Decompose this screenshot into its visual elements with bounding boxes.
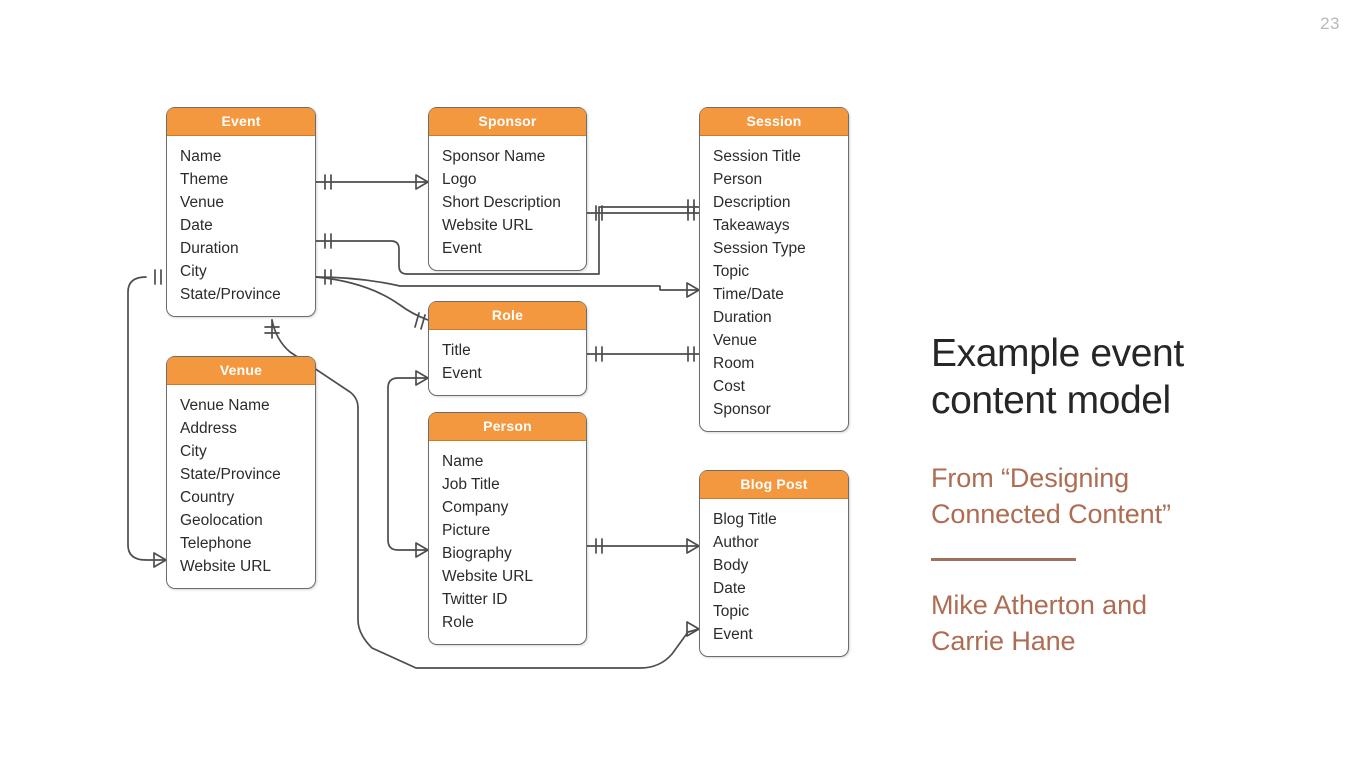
entity-sponsor[interactable]: Sponsor Sponsor Name Logo Short Descript… xyxy=(428,107,587,271)
connector-role-person xyxy=(388,378,428,550)
page-title-line-2: content model xyxy=(931,379,1171,422)
entity-event[interactable]: Event Name Theme Venue Date Duration Cit… xyxy=(166,107,316,317)
field: Session Type xyxy=(713,237,848,260)
field: Picture xyxy=(442,519,586,542)
connector-event-session-topic xyxy=(316,277,699,290)
field: Event xyxy=(442,237,586,260)
field: Room xyxy=(713,352,848,375)
field: Description xyxy=(713,191,848,214)
field: City xyxy=(180,260,315,283)
connector-event-role xyxy=(316,277,428,320)
author-attribution: Mike Atherton and Carrie Hane xyxy=(931,587,1331,659)
field: Country xyxy=(180,486,315,509)
field: Session Title xyxy=(713,145,848,168)
field: State/Province xyxy=(180,463,315,486)
field: Venue Name xyxy=(180,394,315,417)
field: Cost xyxy=(713,375,848,398)
field: Theme xyxy=(180,168,315,191)
entity-event-header: Event xyxy=(167,108,315,136)
field: Sponsor xyxy=(713,398,848,421)
field: Geolocation xyxy=(180,509,315,532)
field: Website URL xyxy=(180,555,315,578)
connector-event-venue xyxy=(128,277,166,560)
page-title-line-1: Example event xyxy=(931,332,1184,375)
entity-role[interactable]: Role Title Event xyxy=(428,301,587,396)
field: State/Province xyxy=(180,283,315,306)
source-line-1: From “Designing xyxy=(931,463,1129,493)
field: Event xyxy=(442,362,586,385)
field: Blog Title xyxy=(713,508,848,531)
field: Topic xyxy=(713,260,848,283)
entity-sponsor-fields: Sponsor Name Logo Short Description Webs… xyxy=(429,136,586,270)
field: Date xyxy=(713,577,848,600)
field: Venue xyxy=(713,329,848,352)
entity-blog-post-header: Blog Post xyxy=(700,471,848,499)
field: Short Description xyxy=(442,191,586,214)
field: Address xyxy=(180,417,315,440)
entity-venue[interactable]: Venue Venue Name Address City State/Prov… xyxy=(166,356,316,589)
field: Topic xyxy=(713,600,848,623)
field: Role xyxy=(442,611,586,634)
field: Name xyxy=(442,450,586,473)
field: Person xyxy=(713,168,848,191)
field: Title xyxy=(442,339,586,362)
field: Body xyxy=(713,554,848,577)
field: Name xyxy=(180,145,315,168)
er-diagram: Event Name Theme Venue Date Duration Cit… xyxy=(0,0,900,766)
field: Takeaways xyxy=(713,214,848,237)
entity-venue-header: Venue xyxy=(167,357,315,385)
entity-person[interactable]: Person Name Job Title Company Picture Bi… xyxy=(428,412,587,645)
field: Author xyxy=(713,531,848,554)
text-panel: Example event content model From “Design… xyxy=(931,330,1331,659)
field: Sponsor Name xyxy=(442,145,586,168)
field: Telephone xyxy=(180,532,315,555)
entity-role-header: Role xyxy=(429,302,586,330)
field: Time/Date xyxy=(713,283,848,306)
entity-role-fields: Title Event xyxy=(429,330,586,395)
field: Duration xyxy=(180,237,315,260)
entity-blog-post-fields: Blog Title Author Body Date Topic Event xyxy=(700,499,848,656)
entity-event-fields: Name Theme Venue Date Duration City Stat… xyxy=(167,136,315,316)
entity-person-header: Person xyxy=(429,413,586,441)
entity-session-header: Session xyxy=(700,108,848,136)
entity-session[interactable]: Session Session Title Person Description… xyxy=(699,107,849,432)
author-line-1: Mike Atherton and xyxy=(931,590,1147,620)
entity-venue-fields: Venue Name Address City State/Province C… xyxy=(167,385,315,588)
field: Duration xyxy=(713,306,848,329)
field: Logo xyxy=(442,168,586,191)
entity-blog-post[interactable]: Blog Post Blog Title Author Body Date To… xyxy=(699,470,849,657)
author-line-2: Carrie Hane xyxy=(931,626,1075,656)
field: Twitter ID xyxy=(442,588,586,611)
source-attribution: From “Designing Connected Content” xyxy=(931,460,1331,532)
field: Website URL xyxy=(442,565,586,588)
field: Website URL xyxy=(442,214,586,237)
field: Event xyxy=(713,623,848,646)
page-title: Example event content model xyxy=(931,330,1331,424)
field: Biography xyxy=(442,542,586,565)
field: Company xyxy=(442,496,586,519)
page-number: 23 xyxy=(1320,14,1340,34)
field: Date xyxy=(180,214,315,237)
entity-session-fields: Session Title Person Description Takeawa… xyxy=(700,136,848,431)
field: Job Title xyxy=(442,473,586,496)
panel-divider xyxy=(931,558,1076,561)
entity-sponsor-header: Sponsor xyxy=(429,108,586,136)
source-line-2: Connected Content” xyxy=(931,499,1171,529)
entity-person-fields: Name Job Title Company Picture Biography… xyxy=(429,441,586,644)
field: Venue xyxy=(180,191,315,214)
field: City xyxy=(180,440,315,463)
